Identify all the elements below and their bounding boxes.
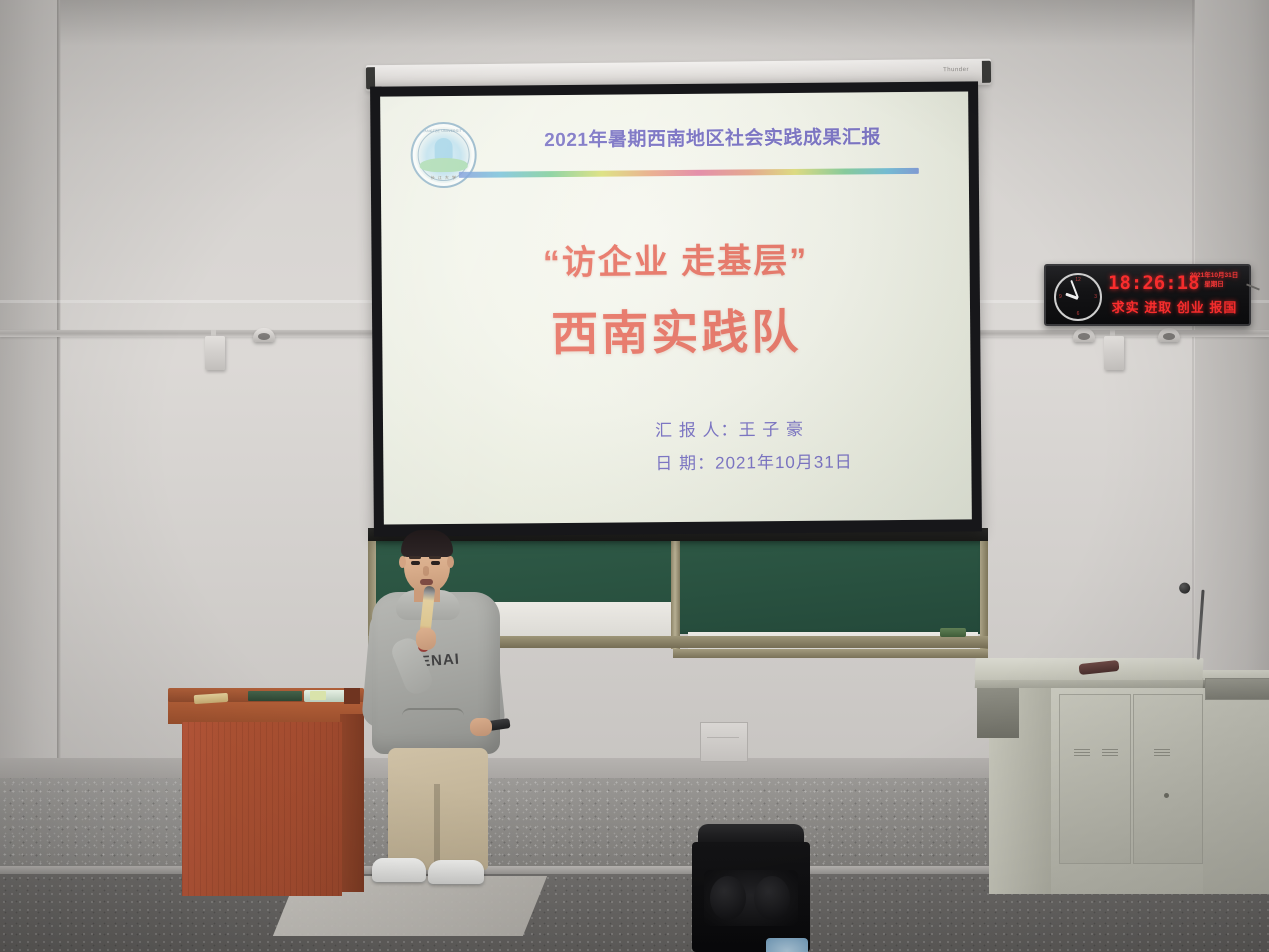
dome-camera-right-icon (1073, 328, 1095, 342)
presenter-right-hand (470, 718, 492, 736)
pa-speaker-label (766, 938, 808, 952)
presenter-hair (401, 530, 453, 557)
wall-speaker-right (1104, 336, 1124, 370)
slide-meta-date-label: 日 期： (655, 447, 715, 481)
slide-meta-date-value: 2021年10月31日 (715, 446, 853, 480)
led-wall-clock: 12 3 6 9 18:26:18 2021年10月31日 星期日 求实 进取 … (1044, 264, 1251, 326)
clock-weekday-line: 星期日 (1184, 280, 1244, 289)
slide-meta-date-row: 日 期：2021年10月31日 (655, 445, 945, 481)
console-vent-b (1102, 749, 1118, 758)
slide-meta-presenter-value: 王 子 豪 (738, 413, 804, 447)
clock-date-display: 2021年10月31日 星期日 (1184, 271, 1244, 290)
console-door-left[interactable] (1059, 694, 1131, 864)
pa-speaker-top (698, 824, 804, 844)
presenter-shoe-left (372, 858, 426, 882)
housing-brand-label: Thunder (943, 67, 969, 73)
clock-num-9: 9 (1059, 294, 1062, 300)
wall-access-panel (700, 722, 748, 762)
wall-left-edge (57, 0, 61, 800)
pa-speaker-cone-right (754, 876, 790, 920)
dome-camera-left-icon (253, 328, 275, 342)
ceiling-shadow (0, 0, 1269, 46)
console-right-cabinet (1201, 674, 1269, 894)
slide-meta-presenter-label: 汇 报 人： (655, 413, 739, 447)
hoodie-pocket (402, 708, 464, 740)
clock-date-line: 2021年10月31日 (1184, 271, 1244, 280)
console-under-shelf (977, 688, 1019, 738)
clock-time-display: 18:26:18 (1108, 272, 1194, 294)
logo-ground-shape (420, 158, 467, 172)
clock-num-3: 3 (1094, 294, 1097, 300)
presenter-ear-right (447, 556, 454, 568)
presenter-eye-left (411, 561, 420, 565)
housing-cap-right (982, 61, 991, 83)
presenter-eye-right (431, 561, 440, 565)
presenter-left-hand (416, 628, 436, 650)
dome-camera-far-right-icon (1158, 328, 1180, 342)
clock-num-6: 6 (1077, 311, 1080, 317)
slide-rainbow-divider (459, 168, 919, 178)
logo-text-top: YANGTZE UNIVERSITY (412, 129, 474, 134)
blackboard-chalk-rail-lower (673, 649, 988, 658)
university-logo-icon: YANGTZE UNIVERSITY 长 江 大 学 (410, 122, 477, 189)
pa-speaker-body (692, 842, 810, 952)
slide-title-quote: “访企业 走基层” (381, 231, 969, 285)
lecture-hall-photo: 12 3 6 9 18:26:18 2021年10月31日 星期日 求实 进取 … (0, 0, 1269, 952)
slide-header-title: 2021年暑期西南地区社会实践成果汇报 (492, 122, 932, 153)
console-door-knob[interactable] (1164, 793, 1169, 798)
console-door-right[interactable] (1133, 694, 1203, 864)
lectern-front-panel (182, 722, 342, 896)
presenter-brow-left (409, 556, 421, 559)
wooden-lectern (176, 688, 364, 896)
presenter-nose (423, 566, 429, 576)
clock-motto-display: 求实 进取 创业 报国 (1104, 297, 1245, 316)
slide-title-main: 西南实践队 (382, 291, 971, 365)
slide-meta-presenter-row: 汇 报 人：王 子 豪 (655, 412, 945, 448)
presenter-brow-right (429, 556, 441, 559)
pa-speaker (692, 824, 810, 952)
presenter-leg-separation (434, 784, 440, 872)
presenter-ear-left (399, 556, 406, 568)
pa-speaker-cone-left (710, 876, 746, 920)
presentation-slide: YANGTZE UNIVERSITY 长 江 大 学 2021年暑期西南地区社会… (380, 91, 972, 524)
presenter-shoe-right (428, 860, 484, 884)
clock-num-12: 12 (1075, 277, 1081, 283)
lectern-item-book (248, 691, 302, 701)
lectern-item-card (310, 691, 326, 700)
blackboard-divider (671, 541, 680, 649)
blackboard-eraser (940, 628, 966, 637)
console-vent-a (1074, 749, 1090, 758)
console-equipment-rack (1205, 678, 1269, 700)
wall-speaker-left (205, 336, 225, 370)
presenter-mouth (420, 579, 433, 585)
console-vent-c (1154, 749, 1170, 758)
wall-left-panel (0, 0, 60, 800)
presenter-person: ENAI (358, 530, 518, 896)
slide-meta-block: 汇 报 人：王 子 豪 日 期：2021年10月31日 (655, 412, 946, 481)
projector-screen-surface: YANGTZE UNIVERSITY 长 江 大 学 2021年暑期西南地区社会… (380, 91, 972, 524)
analog-clock-face: 12 3 6 9 (1054, 273, 1102, 321)
logo-dome-shape (435, 138, 453, 160)
teacher-console-desk (975, 658, 1269, 896)
